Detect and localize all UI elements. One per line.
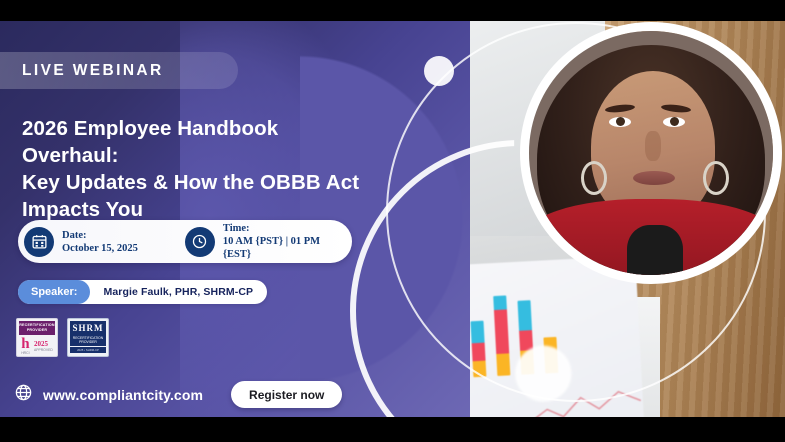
shrm-badge-header: RECERTIFICATION PROVIDER — [70, 335, 106, 346]
time-label: Time: — [223, 223, 250, 234]
portrait-nose — [645, 131, 661, 161]
hrci-badge-header: RECERTIFICATION PROVIDER — [19, 321, 55, 335]
register-now-button[interactable]: Register now — [231, 381, 342, 408]
speaker-tag: Speaker: — [18, 280, 90, 304]
shrm-logo: SHRM — [70, 321, 106, 335]
date-block: Date: October 15, 2025 — [18, 227, 178, 257]
portrait-earring-right — [703, 161, 729, 195]
speaker-name: Margie Faulk, PHR, SHRM-CP — [90, 286, 253, 298]
calendar-icon — [24, 227, 54, 257]
schedule-pill: Date: October 15, 2025 Time: 10 AM {PST}… — [18, 220, 352, 263]
hrci-mark: h — [21, 337, 29, 351]
speaker-row: Speaker: Margie Faulk, PHR, SHRM-CP — [18, 280, 267, 304]
hrci-badge-body: h HRCI 2025 APPROVED — [19, 335, 55, 355]
time-text: Time: 10 AM {PST} | 01 PM {EST} — [223, 222, 342, 261]
hrci-year: 2025 — [34, 340, 53, 348]
date-text: Date: October 15, 2025 — [62, 229, 138, 255]
footer-bar: www.compliantcity.com Register now — [0, 372, 484, 417]
letterbox-top — [0, 0, 785, 21]
globe-icon — [14, 383, 33, 407]
portrait-lips — [633, 171, 675, 185]
time-value: 10 AM {PST} | 01 PM {EST} — [223, 236, 320, 260]
date-label: Date: — [62, 230, 87, 241]
hrci-mark-sub: HRCI — [21, 351, 29, 355]
portrait-inner-top — [627, 225, 683, 275]
date-value: October 15, 2025 — [62, 243, 138, 254]
portrait-earring-left — [581, 161, 607, 195]
webinar-banner: LIVE WEBINAR 2026 Employee Handbook Over… — [0, 0, 785, 442]
decorative-dot — [424, 56, 454, 86]
live-webinar-label: LIVE WEBINAR — [22, 62, 164, 80]
page-title: 2026 Employee Handbook Overhaul: Key Upd… — [22, 115, 372, 223]
hrci-year-sub: APPROVED — [34, 348, 53, 352]
shrm-recertification-provider-badge: SHRM RECERTIFICATION PROVIDER 2025 • SHR… — [67, 318, 109, 357]
title-line-2: Key Updates & How the OBBB Act — [22, 169, 372, 196]
credential-badges: RECERTIFICATION PROVIDER h HRCI 2025 APP… — [16, 318, 109, 357]
title-line-3: Impacts You — [22, 196, 372, 223]
website-url[interactable]: www.compliantcity.com — [43, 387, 203, 403]
portrait-pupil-right — [670, 117, 679, 126]
title-line-1: 2026 Employee Handbook Overhaul: — [22, 115, 372, 169]
time-block: Time: 10 AM {PST} | 01 PM {EST} — [178, 222, 352, 261]
speaker-portrait — [529, 31, 773, 275]
portrait-pupil-left — [616, 117, 625, 126]
live-webinar-badge: LIVE WEBINAR — [0, 52, 238, 89]
letterbox-bottom — [0, 417, 785, 442]
shrm-badge-footer: 2025 • SHRM-CP — [70, 347, 106, 353]
clock-icon — [185, 227, 215, 257]
hrci-recertification-provider-badge: RECERTIFICATION PROVIDER h HRCI 2025 APP… — [16, 318, 58, 357]
